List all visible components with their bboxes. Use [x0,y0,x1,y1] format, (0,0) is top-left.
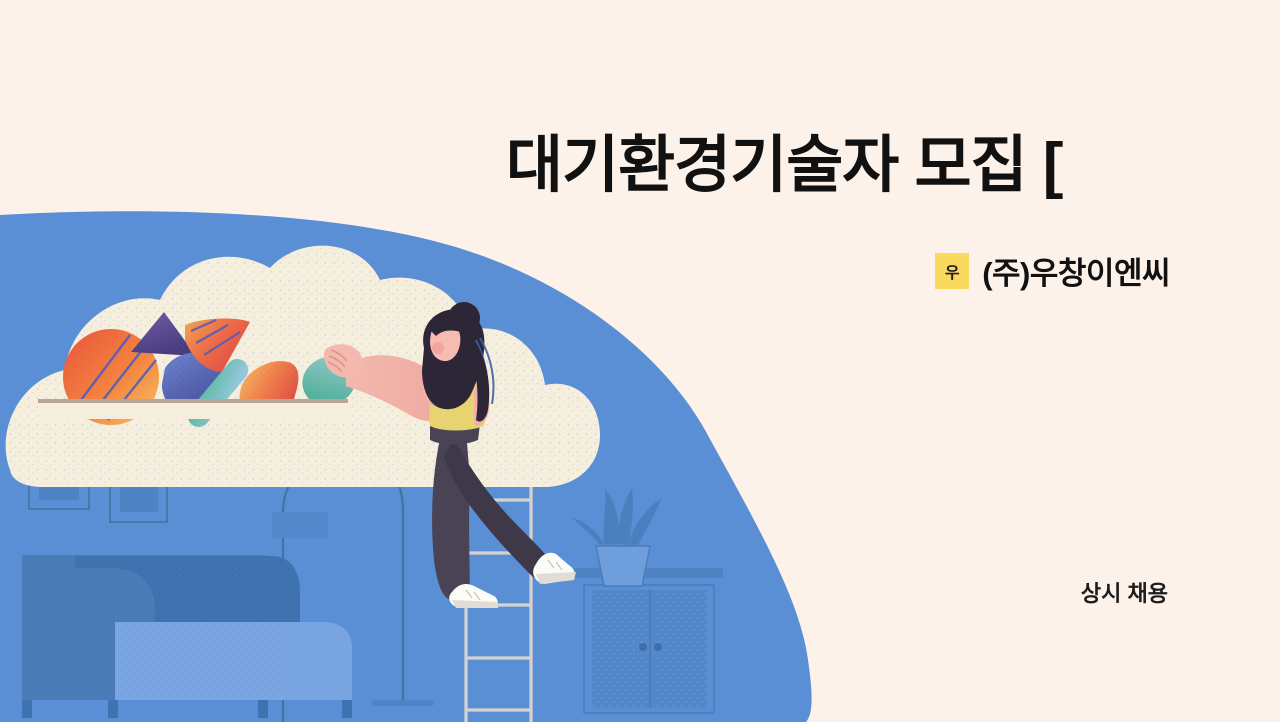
illustration-woman-on-ladder [0,0,1280,722]
job-posting-banner: 대기환경기술자 모집 [ 우 (주)우창이엔씨 상시 채용 [0,0,1280,722]
company-logo-badge: 우 [935,253,969,289]
company-row[interactable]: 우 (주)우창이엔씨 [935,248,1170,293]
status-badge: 상시 채용 [1081,576,1168,608]
shelf-plank [38,399,348,419]
page-title: 대기환경기술자 모집 [ [506,131,1206,200]
company-name: (주)우창이엔씨 [982,248,1170,293]
